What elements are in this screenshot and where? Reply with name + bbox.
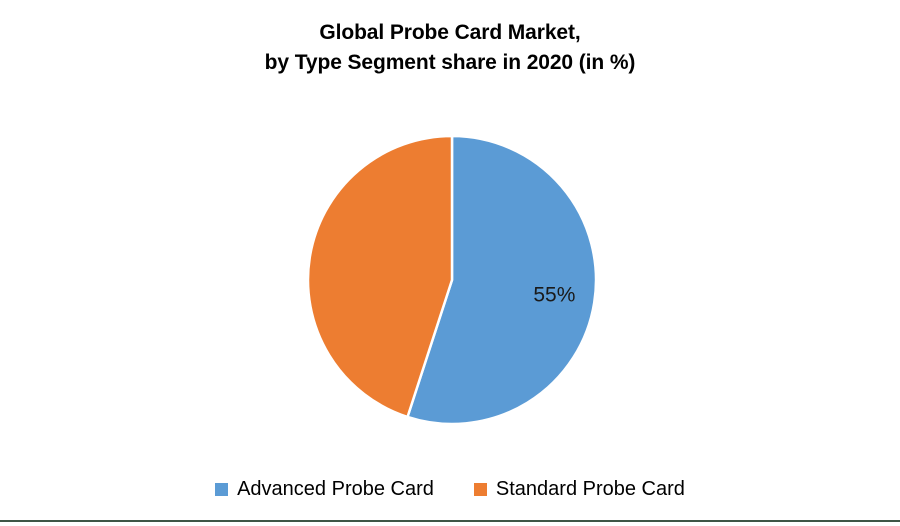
legend-square-marker-advanced xyxy=(215,483,228,496)
pie-slice-labels: 55% xyxy=(533,284,575,307)
chart-legend: Advanced Probe Card Standard Probe Card xyxy=(0,478,900,500)
legend-label-standard: Standard Probe Card xyxy=(496,478,685,500)
legend-square-marker-standard xyxy=(474,483,487,496)
bottom-border-rule xyxy=(0,520,900,522)
legend-item-advanced-probe-card[interactable]: Advanced Probe Card xyxy=(215,478,434,500)
plot-area: 55% xyxy=(0,0,900,470)
pie-svg: 55% xyxy=(0,0,900,470)
pie-slices xyxy=(308,136,596,424)
legend-label-advanced: Advanced Probe Card xyxy=(237,478,434,500)
pie-slice-value-label: 55% xyxy=(533,284,575,307)
pie-chart-figure: Global Probe Card Market, by Type Segmen… xyxy=(0,0,900,526)
legend-item-standard-probe-card[interactable]: Standard Probe Card xyxy=(474,478,685,500)
